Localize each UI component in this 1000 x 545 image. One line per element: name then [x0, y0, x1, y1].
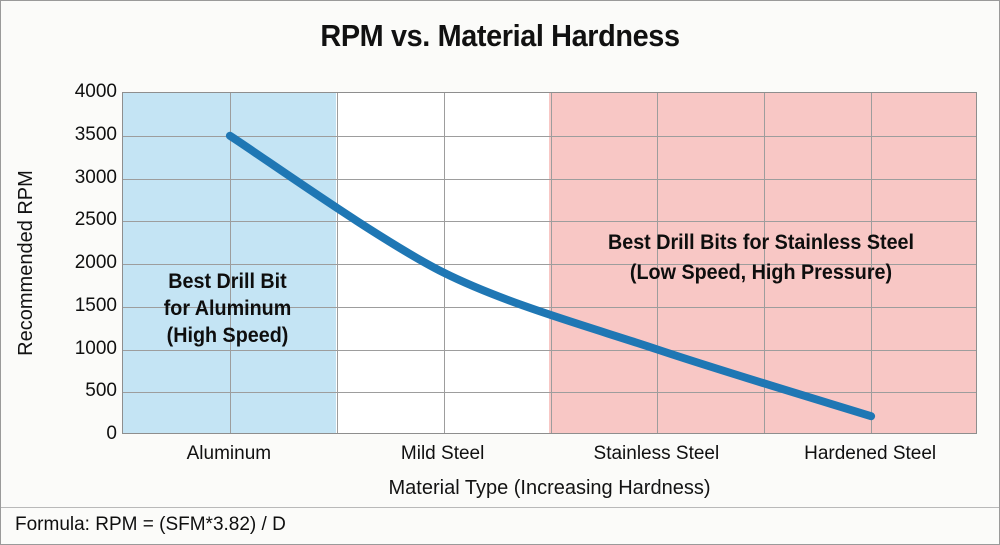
- annotation-aluminum-zone: Best Drill Bitfor Aluminum(High Speed): [131, 268, 324, 349]
- y-tick-label: 3500: [53, 124, 117, 146]
- x-axis-tick-labels: AluminumMild SteelStainless SteelHardene…: [122, 443, 977, 471]
- y-tick-label: 4000: [53, 81, 117, 103]
- annotation-line: Best Drill Bits for Stainless Steel: [564, 228, 959, 258]
- y-tick-label: 500: [53, 380, 117, 402]
- annotation-line: (Low Speed, High Pressure): [564, 258, 959, 288]
- y-tick-label: 2000: [53, 252, 117, 274]
- y-axis-tick-labels: 05001000150020002500300035004000: [53, 92, 117, 434]
- x-tick-label: Mild Steel: [343, 443, 543, 465]
- y-tick-label: 0: [53, 423, 117, 445]
- y-tick-label: 1500: [53, 295, 117, 317]
- annotation-line: for Aluminum: [131, 295, 324, 322]
- chart-page: RPM vs. Material Hardness Recommended RP…: [0, 0, 1000, 545]
- annotation-line: (High Speed): [131, 322, 324, 349]
- y-tick-label: 2500: [53, 209, 117, 231]
- footer-divider: [1, 507, 999, 508]
- x-axis-title: Material Type (Increasing Hardness): [122, 477, 977, 500]
- x-tick-label: Stainless Steel: [556, 443, 756, 465]
- page-title: RPM vs. Material Hardness: [36, 18, 964, 54]
- formula-note: Formula: RPM = (SFM*3.82) / D: [15, 514, 286, 536]
- x-tick-label: Hardened Steel: [770, 443, 970, 465]
- annotation-line: Best Drill Bit: [131, 268, 324, 295]
- annotation-stainless-zone: Best Drill Bits for Stainless Steel(Low …: [564, 228, 959, 288]
- y-axis-title: Recommended RPM: [13, 92, 39, 434]
- x-tick-label: Aluminum: [129, 443, 329, 465]
- y-tick-label: 3000: [53, 167, 117, 189]
- y-tick-label: 1000: [53, 338, 117, 360]
